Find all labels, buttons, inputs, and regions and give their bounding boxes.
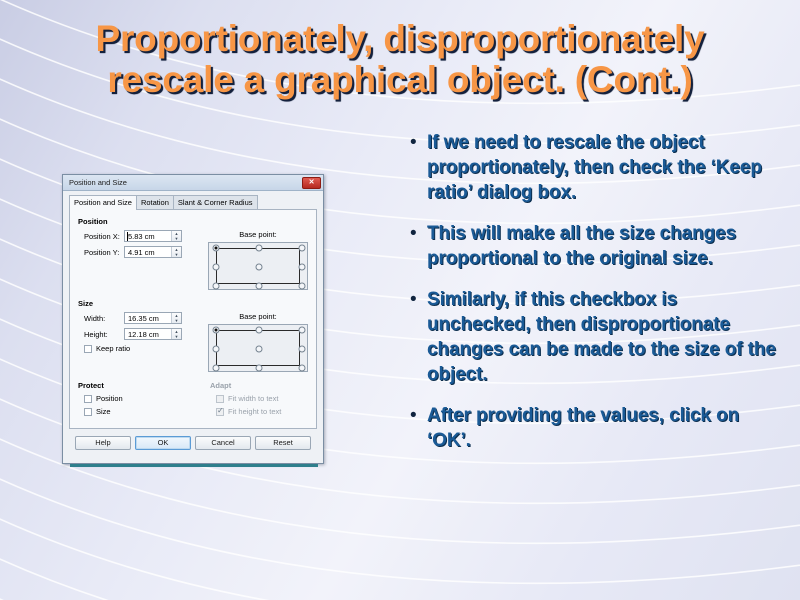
base-point-bottom-left[interactable] <box>213 283 220 290</box>
dialog-tabstrip: Position and Size Rotation Slant & Corne… <box>69 196 317 210</box>
position-base-point-section: Base point: <box>204 230 308 290</box>
cancel-button[interactable]: Cancel <box>195 436 251 450</box>
protect-size-row[interactable]: Size <box>78 407 206 416</box>
size-group-title: Size <box>78 299 308 308</box>
height-input[interactable]: 12.18 cm <box>125 329 171 339</box>
position-x-spin-buttons[interactable]: ▲ ▼ <box>171 231 181 241</box>
keep-ratio-checkbox[interactable] <box>84 345 92 353</box>
spin-down-icon[interactable]: ▼ <box>172 252 181 257</box>
width-stepper[interactable]: 16.35 cm ▲ ▼ <box>124 312 182 324</box>
bullet-marker-icon: • <box>405 403 427 428</box>
slide: Proportionately, disproportionately resc… <box>0 0 800 600</box>
keep-ratio-row[interactable]: Keep ratio <box>78 344 204 353</box>
protect-group-title: Protect <box>78 381 206 390</box>
dialog-underline-accent <box>70 464 318 467</box>
fit-width-to-text-checkbox <box>216 395 224 403</box>
protect-position-checkbox[interactable] <box>84 395 92 403</box>
base-point-middle-left[interactable] <box>213 264 220 271</box>
adapt-group: Adapt Fit width to text Fit height to te… <box>206 381 308 420</box>
base-point-center[interactable] <box>256 346 263 353</box>
protect-group: Protect Position Size <box>78 381 206 420</box>
position-x-stepper[interactable]: 5.83 cm ▲ ▼ <box>124 230 182 242</box>
width-spin-buttons[interactable]: ▲ ▼ <box>171 313 181 323</box>
bullet-item: • This will make all the size changes pr… <box>405 221 785 271</box>
position-y-spin-buttons[interactable]: ▲ ▼ <box>171 247 181 257</box>
height-stepper[interactable]: 12.18 cm ▲ ▼ <box>124 328 182 340</box>
position-x-label: Position X: <box>84 232 124 241</box>
size-fields: Width: 16.35 cm ▲ ▼ Height: <box>78 312 204 372</box>
position-y-row: Position Y: 4.91 cm ▲ ▼ <box>78 246 204 258</box>
tab-slant-corner-radius[interactable]: Slant & Corner Radius <box>173 195 258 209</box>
bullet-text: If we need to rescale the object proport… <box>427 130 785 205</box>
bullet-text: This will make all the size changes prop… <box>427 221 785 271</box>
bullet-marker-icon: • <box>405 221 427 246</box>
position-y-stepper[interactable]: 4.91 cm ▲ ▼ <box>124 246 182 258</box>
position-y-input[interactable]: 4.91 cm <box>125 247 171 257</box>
dialog-titlebar: Position and Size ✕ <box>63 175 323 191</box>
base-point-bottom-left[interactable] <box>213 365 220 372</box>
position-group: Position X: 5.83 cm ▲ ▼ Position Y: <box>78 230 308 290</box>
height-label: Height: <box>84 330 124 339</box>
base-point-top-left[interactable] <box>213 327 220 334</box>
base-point-top-left[interactable] <box>213 245 220 252</box>
base-point-top-right[interactable] <box>299 245 306 252</box>
bullet-text: After providing the values, click on ‘OK… <box>427 403 785 453</box>
protect-position-row[interactable]: Position <box>78 394 206 403</box>
size-base-point-selector[interactable] <box>208 324 308 372</box>
keep-ratio-label: Keep ratio <box>96 344 130 353</box>
bullet-item: • If we need to rescale the object propo… <box>405 130 785 205</box>
size-base-point-section: Base point: <box>204 312 308 372</box>
height-row: Height: 12.18 cm ▲ ▼ <box>78 328 204 340</box>
bullet-list: • If we need to rescale the object propo… <box>405 130 785 469</box>
base-point-middle-left[interactable] <box>213 346 220 353</box>
base-point-center[interactable] <box>256 264 263 271</box>
base-point-top-center[interactable] <box>256 327 263 334</box>
position-y-label: Position Y: <box>84 248 124 257</box>
fit-height-to-text-checkbox <box>216 408 224 416</box>
base-point-middle-right[interactable] <box>299 346 306 353</box>
bullet-text: Similarly, if this checkbox is unchecked… <box>427 287 785 387</box>
base-point-bottom-center[interactable] <box>256 365 263 372</box>
tab-panel-position-and-size: Position Position X: 5.83 cm ▲ ▼ <box>69 210 317 429</box>
bullet-marker-icon: • <box>405 287 427 312</box>
spin-down-icon[interactable]: ▼ <box>172 236 181 241</box>
protect-size-label: Size <box>96 407 111 416</box>
base-point-bottom-right[interactable] <box>299 283 306 290</box>
help-button[interactable]: Help <box>75 436 131 450</box>
adapt-group-title: Adapt <box>210 381 308 390</box>
fit-height-to-text-row: Fit height to text <box>210 407 308 416</box>
bullet-marker-icon: • <box>405 130 427 155</box>
width-label: Width: <box>84 314 124 323</box>
position-x-input[interactable]: 5.83 cm <box>125 231 171 241</box>
width-input[interactable]: 16.35 cm <box>125 313 171 323</box>
bullet-item: • After providing the values, click on ‘… <box>405 403 785 453</box>
fit-height-to-text-label: Fit height to text <box>228 407 281 416</box>
slide-title-line-2: rescale a graphical object. (Cont.) <box>40 59 760 100</box>
position-and-size-dialog: Position and Size ✕ Position and Size Ro… <box>62 174 324 464</box>
base-point-top-center[interactable] <box>256 245 263 252</box>
bullet-item: • Similarly, if this checkbox is uncheck… <box>405 287 785 387</box>
position-base-point-label: Base point: <box>208 230 308 239</box>
position-group-title: Position <box>78 217 308 226</box>
base-point-bottom-right[interactable] <box>299 365 306 372</box>
position-x-row: Position X: 5.83 cm ▲ ▼ <box>78 230 204 242</box>
spin-down-icon[interactable]: ▼ <box>172 318 181 323</box>
width-row: Width: 16.35 cm ▲ ▼ <box>78 312 204 324</box>
protect-size-checkbox[interactable] <box>84 408 92 416</box>
position-fields: Position X: 5.83 cm ▲ ▼ Position Y: <box>78 230 204 290</box>
dialog-title: Position and Size <box>69 178 302 187</box>
protect-adapt-row: Protect Position Size Adapt <box>78 381 308 420</box>
dialog-button-row: Help OK Cancel Reset <box>69 429 317 456</box>
dialog-body: Position and Size Rotation Slant & Corne… <box>63 191 323 463</box>
spin-down-icon[interactable]: ▼ <box>172 334 181 339</box>
base-point-bottom-center[interactable] <box>256 283 263 290</box>
reset-button[interactable]: Reset <box>255 436 311 450</box>
base-point-middle-right[interactable] <box>299 264 306 271</box>
fit-width-to-text-row: Fit width to text <box>210 394 308 403</box>
protect-position-label: Position <box>96 394 123 403</box>
base-point-top-right[interactable] <box>299 327 306 334</box>
slide-title: Proportionately, disproportionately resc… <box>40 18 760 101</box>
tab-rotation[interactable]: Rotation <box>136 195 174 209</box>
size-group: Width: 16.35 cm ▲ ▼ Height: <box>78 312 308 372</box>
slide-title-line-1: Proportionately, disproportionately <box>40 18 760 59</box>
ok-button[interactable]: OK <box>135 436 191 450</box>
fit-width-to-text-label: Fit width to text <box>228 394 278 403</box>
position-base-point-selector[interactable] <box>208 242 308 290</box>
height-spin-buttons[interactable]: ▲ ▼ <box>171 329 181 339</box>
size-base-point-label: Base point: <box>208 312 308 321</box>
close-icon[interactable]: ✕ <box>302 177 321 189</box>
tab-position-and-size[interactable]: Position and Size <box>69 195 137 210</box>
